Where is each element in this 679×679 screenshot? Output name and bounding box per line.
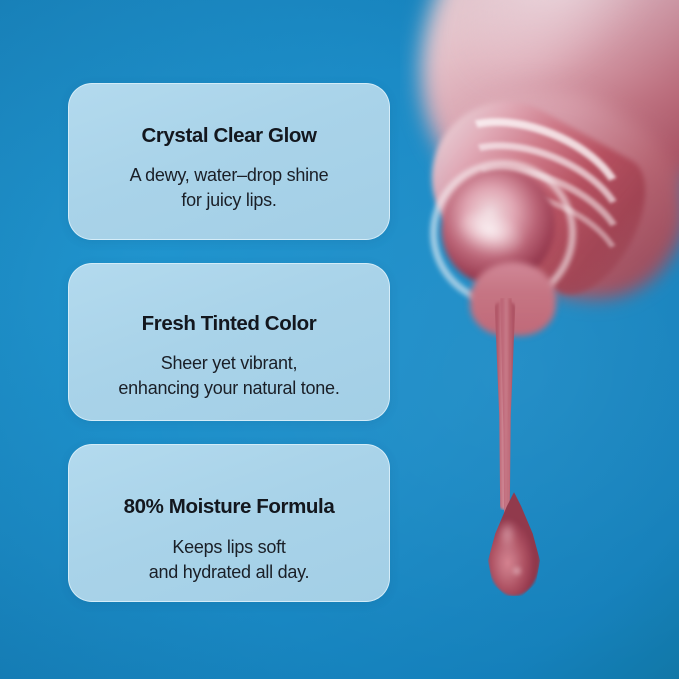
feature-card-title: Crystal Clear Glow xyxy=(87,125,371,148)
product-feature-graphic: Crystal Clear Glow A dewy, water–drop sh… xyxy=(0,0,679,679)
feature-card: Fresh Tinted Color Sheer yet vibrant, en… xyxy=(68,263,390,421)
feature-card-body: Sheer yet vibrant, enhancing your natura… xyxy=(87,351,371,402)
feature-card-body: A dewy, water–drop shine for juicy lips. xyxy=(87,163,371,214)
feature-card-title: 80% Moisture Formula xyxy=(87,496,371,519)
feature-card: Crystal Clear Glow A dewy, water–drop sh… xyxy=(68,83,390,240)
droplet-specular xyxy=(511,566,523,576)
feature-card-body: Keeps lips soft and hydrated all day. xyxy=(87,535,371,586)
feature-card-title: Fresh Tinted Color xyxy=(87,313,371,336)
product-photo xyxy=(400,0,679,679)
feature-card: 80% Moisture Formula Keeps lips soft and… xyxy=(68,444,390,602)
droplet-highlight xyxy=(500,522,516,552)
feature-card-list: Crystal Clear Glow A dewy, water–drop sh… xyxy=(68,83,390,602)
